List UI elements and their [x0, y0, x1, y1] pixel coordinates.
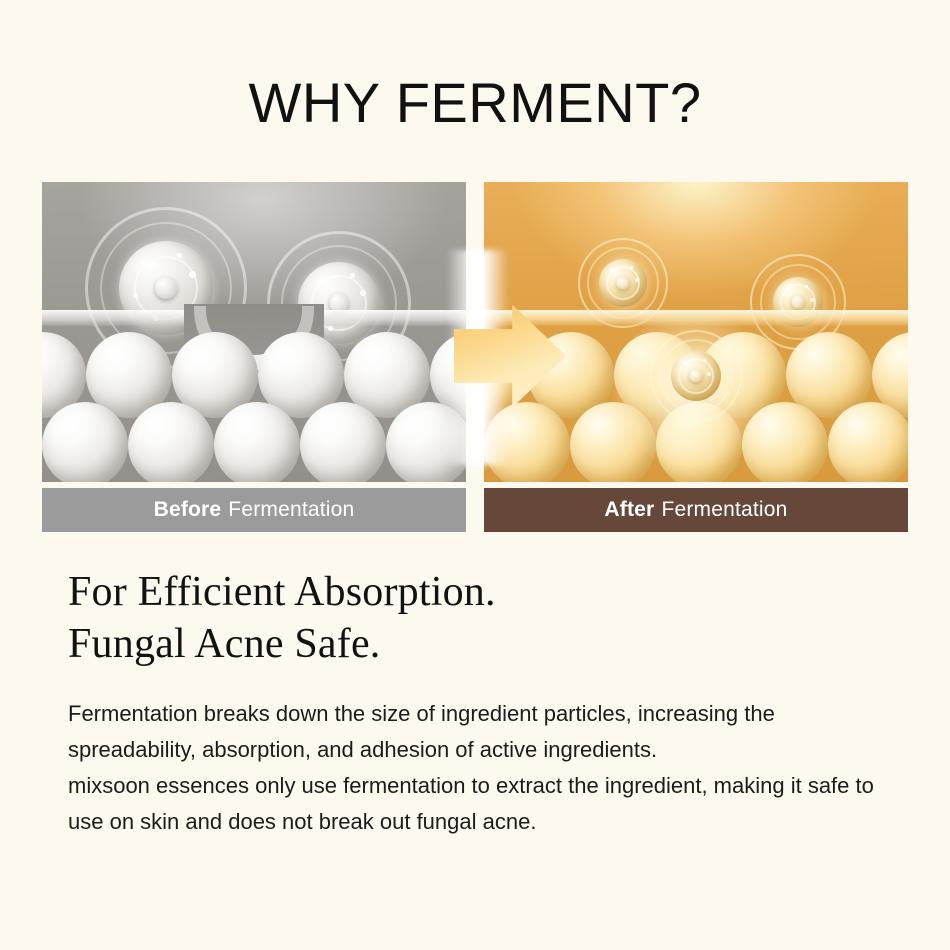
before-after-comparison: Before Fermentation: [42, 182, 908, 532]
before-caption-rest: Fermentation: [228, 498, 354, 522]
after-caption-bar: After Fermentation: [484, 488, 908, 532]
transition-arrow: [440, 300, 560, 412]
headline-line-1: For Efficient Absorption.: [68, 566, 496, 618]
before-illustration: [42, 182, 466, 482]
after-caption-rest: Fermentation: [661, 498, 787, 522]
body-paragraph-2: mixsoon essences only use fermentation t…: [68, 768, 908, 840]
after-caption-bold: After: [604, 498, 654, 522]
before-caption-bar: Before Fermentation: [42, 488, 466, 532]
before-skin-cells: [42, 324, 466, 482]
headline: For Efficient Absorption. Fungal Acne Sa…: [68, 566, 496, 670]
before-panel: Before Fermentation: [42, 182, 466, 532]
headline-line-2: Fungal Acne Safe.: [68, 618, 496, 670]
body-paragraph-1: Fermentation breaks down the size of ing…: [68, 696, 908, 768]
product-infographic-page: WHY FERMENT?: [0, 0, 950, 950]
before-caption-bold: Before: [154, 498, 222, 522]
page-title: WHY FERMENT?: [0, 72, 950, 134]
body-copy: Fermentation breaks down the size of ing…: [68, 696, 908, 840]
molecule-small-3-penetrating: [652, 332, 740, 420]
